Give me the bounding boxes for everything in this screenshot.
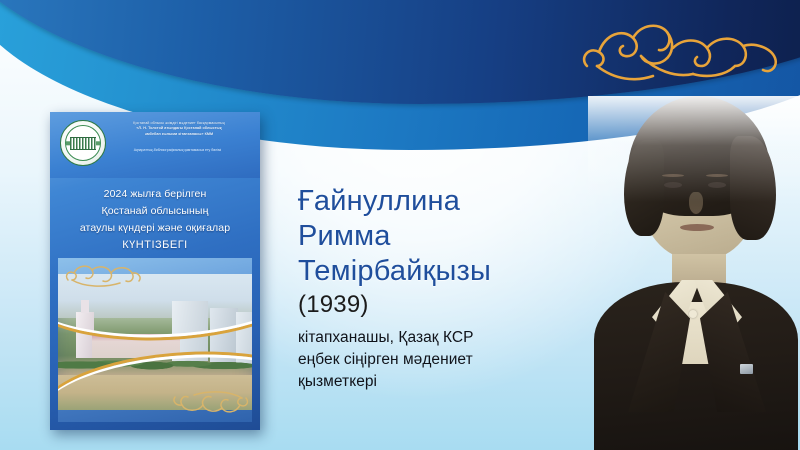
person-description-line-2: еңбек сіңірген мәдениет xyxy=(298,349,574,371)
emblem-inner-ring xyxy=(65,125,101,161)
person-firstname: Римма xyxy=(298,219,574,254)
portrait-hair-right xyxy=(730,136,776,240)
portrait-eye-left xyxy=(664,182,682,188)
person-birth-year: (1939) xyxy=(298,290,574,320)
portrait-eyebrow-left xyxy=(662,174,684,177)
portrait-mouth xyxy=(680,224,714,231)
person-description: кітапханашы, Қазақ КСР еңбек сіңірген мә… xyxy=(298,327,574,393)
portrait-eyebrow-right xyxy=(706,174,728,177)
person-patronymic: Темірбайқызы xyxy=(298,254,574,289)
book-cover: Қостанай облысы әкімдігі мәдениет басқар… xyxy=(50,112,260,430)
book-department-text: Ақпараттық-библиографиялық қамтамасыз ет… xyxy=(100,148,255,153)
portrait-hair-left xyxy=(624,140,664,236)
library-emblem-icon xyxy=(60,120,106,166)
book-ornament-top-left-icon xyxy=(64,262,142,288)
portrait-nose xyxy=(689,192,703,214)
kazakh-ornament-icon xyxy=(575,8,790,93)
person-surname: Ғайнуллина xyxy=(298,184,574,219)
person-description-line-1: кітапханашы, Қазақ КСР xyxy=(298,327,574,349)
portrait-lapel-badge xyxy=(740,364,753,374)
book-title: 2024 жылға берілген Қостанай облысының а… xyxy=(58,186,252,255)
person-info-block: Ғайнуллина Римма Темірбайқызы (1939) кіт… xyxy=(298,184,574,393)
book-title-line-1: 2024 жылға берілген xyxy=(58,186,252,203)
emblem-building-glyph xyxy=(70,137,96,150)
book-title-line-2: Қостанай облысының xyxy=(58,203,252,220)
book-ornament-bottom-right-icon xyxy=(172,390,250,416)
portrait-collar-pin xyxy=(689,310,697,318)
portrait-photo xyxy=(588,96,800,450)
portrait-eye-right xyxy=(708,182,726,188)
person-description-line-3: қызметкері xyxy=(298,371,574,393)
book-org-line-3: әмбебап ғылыми кітапханасы» КММ xyxy=(108,132,250,137)
book-title-line-4: КҮНТІЗБЕГІ xyxy=(58,237,252,255)
presentation-slide: Қостанай облысы әкімдігі мәдениет басқар… xyxy=(0,0,800,450)
book-organization-text: Қостанай облысы әкімдігі мәдениет басқар… xyxy=(108,121,250,137)
book-title-line-3: атаулы күндері және оқиғалар xyxy=(58,220,252,237)
